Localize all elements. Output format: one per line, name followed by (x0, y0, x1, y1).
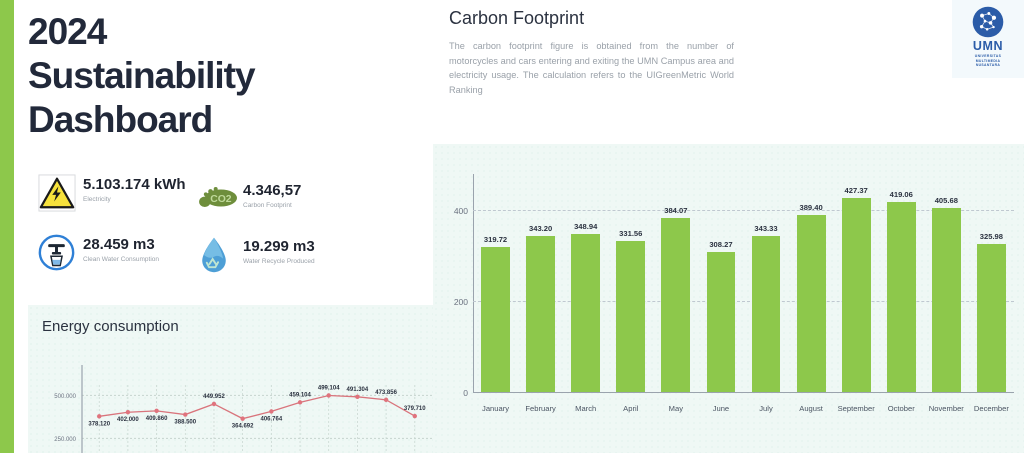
title-line-1: 2024 (28, 10, 418, 54)
line-chart-data-point[interactable] (212, 402, 216, 406)
bar-chart-column[interactable]: 308.27June (698, 174, 743, 392)
line-chart-y-tick-label: 250.000 (54, 437, 76, 443)
bar-chart-x-tick-label: October (888, 404, 915, 413)
left-accent-bar (0, 0, 14, 453)
bar-chart-x-tick-label: September (838, 404, 875, 413)
bar-rect[interactable] (526, 236, 555, 392)
bar-rect[interactable] (887, 202, 916, 392)
bar-chart-column[interactable]: 319.72January (473, 174, 518, 392)
bar-value-label: 343.20 (529, 224, 552, 233)
line-chart-value-label: 402.000 (117, 417, 139, 423)
svg-text:CO2: CO2 (210, 194, 232, 205)
line-chart-data-point[interactable] (154, 409, 158, 413)
kpi-value-water-recycle: 19.299 m3 (243, 238, 315, 255)
bar-chart-x-tick-label: February (525, 404, 555, 413)
energy-consumption-line-chart[interactable]: 250.000500.000378.120402.000409.860388.5… (34, 361, 444, 453)
line-chart-value-label: 499.104 (318, 385, 340, 391)
line-chart-data-point[interactable] (355, 395, 359, 399)
bar-rect[interactable] (616, 241, 645, 392)
co2-footprint-icon: CO2 (198, 180, 236, 218)
line-chart-data-point[interactable] (413, 414, 417, 418)
line-chart-data-point[interactable] (183, 412, 187, 416)
bar-rect[interactable] (797, 215, 826, 392)
bar-chart-column[interactable]: 419.06October (879, 174, 924, 392)
bar-chart-x-tick-label: April (623, 404, 638, 413)
kpi-card-electricity[interactable]: 5.103.174 kWh Electricity (38, 174, 186, 212)
kpi-card-water-recycle[interactable]: 19.299 m3 Water Recycle Produced (198, 236, 315, 274)
line-chart-value-label: 379.710 (404, 406, 426, 412)
umn-network-circle-icon (971, 5, 1005, 39)
title-line-2: Sustainability (28, 54, 418, 98)
kpi-value-electricity: 5.103.174 kWh (83, 176, 186, 193)
page-title: 2024 Sustainability Dashboard (28, 10, 418, 142)
bar-rect[interactable] (977, 244, 1006, 392)
bar-chart-x-tick-label: August (799, 404, 823, 413)
bar-value-label: 405.68 (935, 196, 958, 205)
bar-chart-x-tick-label: January (482, 404, 509, 413)
bar-chart-x-tick-label: July (759, 404, 773, 413)
kpi-text-water-recycle: 19.299 m3 Water Recycle Produced (243, 236, 315, 266)
bar-chart-column[interactable]: 343.20February (518, 174, 563, 392)
line-chart-value-label: 409.860 (146, 416, 168, 422)
bar-rect[interactable] (932, 208, 961, 392)
right-column: Carbon Footprint The carbon footprint fi… (433, 0, 1024, 453)
umn-subtitle-line-3: NUSANTARA (975, 63, 1001, 68)
bar-value-label: 389.40 (799, 203, 822, 212)
umn-logo: UMN UNIVERSITAS MULTIMEDIA NUSANTARA (952, 0, 1024, 78)
carbon-footprint-title: Carbon Footprint (449, 6, 734, 30)
line-chart-value-label: 378.120 (88, 421, 110, 427)
kpi-value-carbon-footprint: 4.346,57 (243, 182, 301, 199)
energy-consumption-panel: Energy consumption 250.000500.000378.120… (28, 305, 447, 453)
bar-value-label: 331.56 (619, 229, 642, 238)
line-chart-svg: 250.000500.000378.120402.000409.860388.5… (34, 361, 444, 453)
bar-rect[interactable] (481, 247, 510, 392)
line-chart-data-point[interactable] (126, 410, 130, 414)
electricity-warning-icon (38, 174, 76, 212)
bar-value-label: 427.37 (845, 186, 868, 195)
bar-value-label: 348.94 (574, 222, 597, 231)
carbon-footprint-header: Carbon Footprint The carbon footprint fi… (449, 6, 734, 97)
bar-chart-column[interactable]: 384.07May (653, 174, 698, 392)
umn-subtitle: UNIVERSITAS MULTIMEDIA NUSANTARA (975, 54, 1001, 68)
kpi-text-electricity: 5.103.174 kWh Electricity (83, 174, 186, 204)
line-chart-y-tick-label: 500.000 (54, 394, 76, 400)
bar-value-label: 343.33 (754, 224, 777, 233)
clean-water-tap-icon (38, 234, 76, 272)
bar-rect[interactable] (752, 236, 781, 392)
kpi-card-clean-water[interactable]: 28.459 m3 Clean Water Consumption (38, 234, 159, 272)
energy-consumption-title: Energy consumption (42, 318, 179, 335)
kpi-label-water-recycle: Water Recycle Produced (243, 258, 315, 266)
line-chart-value-label: 388.500 (174, 420, 196, 426)
kpi-value-clean-water: 28.459 m3 (83, 236, 155, 253)
bar-rect[interactable] (842, 198, 871, 392)
bar-value-label: 384.07 (664, 206, 687, 215)
carbon-footprint-description: The carbon footprint figure is obtained … (449, 39, 734, 97)
bar-value-label: 319.72 (484, 235, 507, 244)
left-column: 2024 Sustainability Dashboard 5.103.174 … (14, 0, 433, 453)
bar-chart-column[interactable]: 331.56April (608, 174, 653, 392)
bar-chart-column[interactable]: 405.68November (924, 174, 969, 392)
bar-chart-x-tick-label: December (974, 404, 1009, 413)
bar-value-label: 419.06 (890, 190, 913, 199)
bar-chart-x-tick-label: November (929, 404, 964, 413)
carbon-footprint-chart-panel: 0200400 319.72January343.20February348.9… (433, 144, 1024, 453)
bar-chart-column[interactable]: 427.37September (834, 174, 879, 392)
kpi-label-electricity: Electricity (83, 196, 161, 204)
line-chart-value-label: 449.952 (203, 394, 225, 400)
bar-chart-y-tick-label: 200 (454, 297, 468, 307)
kpi-text-carbon-footprint: 4.346,57 Carbon Footprint (243, 180, 301, 210)
line-chart-data-point[interactable] (240, 416, 244, 420)
kpi-label-clean-water: Clean Water Consumption (83, 256, 159, 264)
bar-rect[interactable] (661, 218, 690, 392)
bar-rect[interactable] (571, 234, 600, 392)
bar-chart-bars: 319.72January343.20February348.94March33… (473, 174, 1014, 392)
dashboard-page: 2024 Sustainability Dashboard 5.103.174 … (0, 0, 1024, 453)
line-chart-value-label: 491.304 (347, 387, 369, 393)
bar-chart-column[interactable]: 389.40August (789, 174, 834, 392)
line-chart-data-point[interactable] (269, 409, 273, 413)
line-chart-data-point[interactable] (97, 414, 101, 418)
bar-value-label: 308.27 (709, 240, 732, 249)
kpi-text-clean-water: 28.459 m3 Clean Water Consumption (83, 234, 159, 264)
kpi-label-carbon-footprint: Carbon Footprint (243, 202, 301, 210)
bar-chart-x-axis (473, 392, 1014, 393)
umn-subtitle-line-1: UNIVERSITAS (975, 54, 1001, 59)
line-chart-value-label: 364.692 (232, 424, 254, 430)
bar-chart-column[interactable]: 348.94March (563, 174, 608, 392)
line-chart-value-label: 473.856 (375, 390, 397, 396)
line-chart-data-point[interactable] (327, 393, 331, 397)
bar-chart-x-tick-label: May (669, 404, 683, 413)
bar-chart-y-tick-label: 400 (454, 206, 468, 216)
line-chart-value-label: 406.764 (260, 416, 282, 422)
bar-chart-column[interactable]: 343.33July (743, 174, 788, 392)
line-chart-data-point[interactable] (298, 400, 302, 404)
bar-chart-x-tick-label: March (575, 404, 596, 413)
line-chart-data-point[interactable] (384, 398, 388, 402)
bar-chart-plot-area[interactable]: 0200400 319.72January343.20February348.9… (473, 174, 1014, 393)
bar-rect[interactable] (707, 252, 736, 392)
bar-chart-column[interactable]: 325.98December (969, 174, 1014, 392)
kpi-card-group: 5.103.174 kWh Electricity CO2 (36, 172, 406, 290)
bar-chart-x-tick-label: June (713, 404, 729, 413)
bar-chart-y-tick-label: 0 (463, 388, 468, 398)
water-recycle-droplet-icon (198, 236, 236, 274)
umn-wordmark: UMN (973, 40, 1003, 53)
title-line-3: Dashboard (28, 98, 418, 142)
bar-value-label: 325.98 (980, 232, 1003, 241)
kpi-card-carbon-footprint[interactable]: CO2 4.346,57 Carbon Footprint (198, 180, 301, 218)
line-chart-value-label: 459.104 (289, 392, 311, 398)
